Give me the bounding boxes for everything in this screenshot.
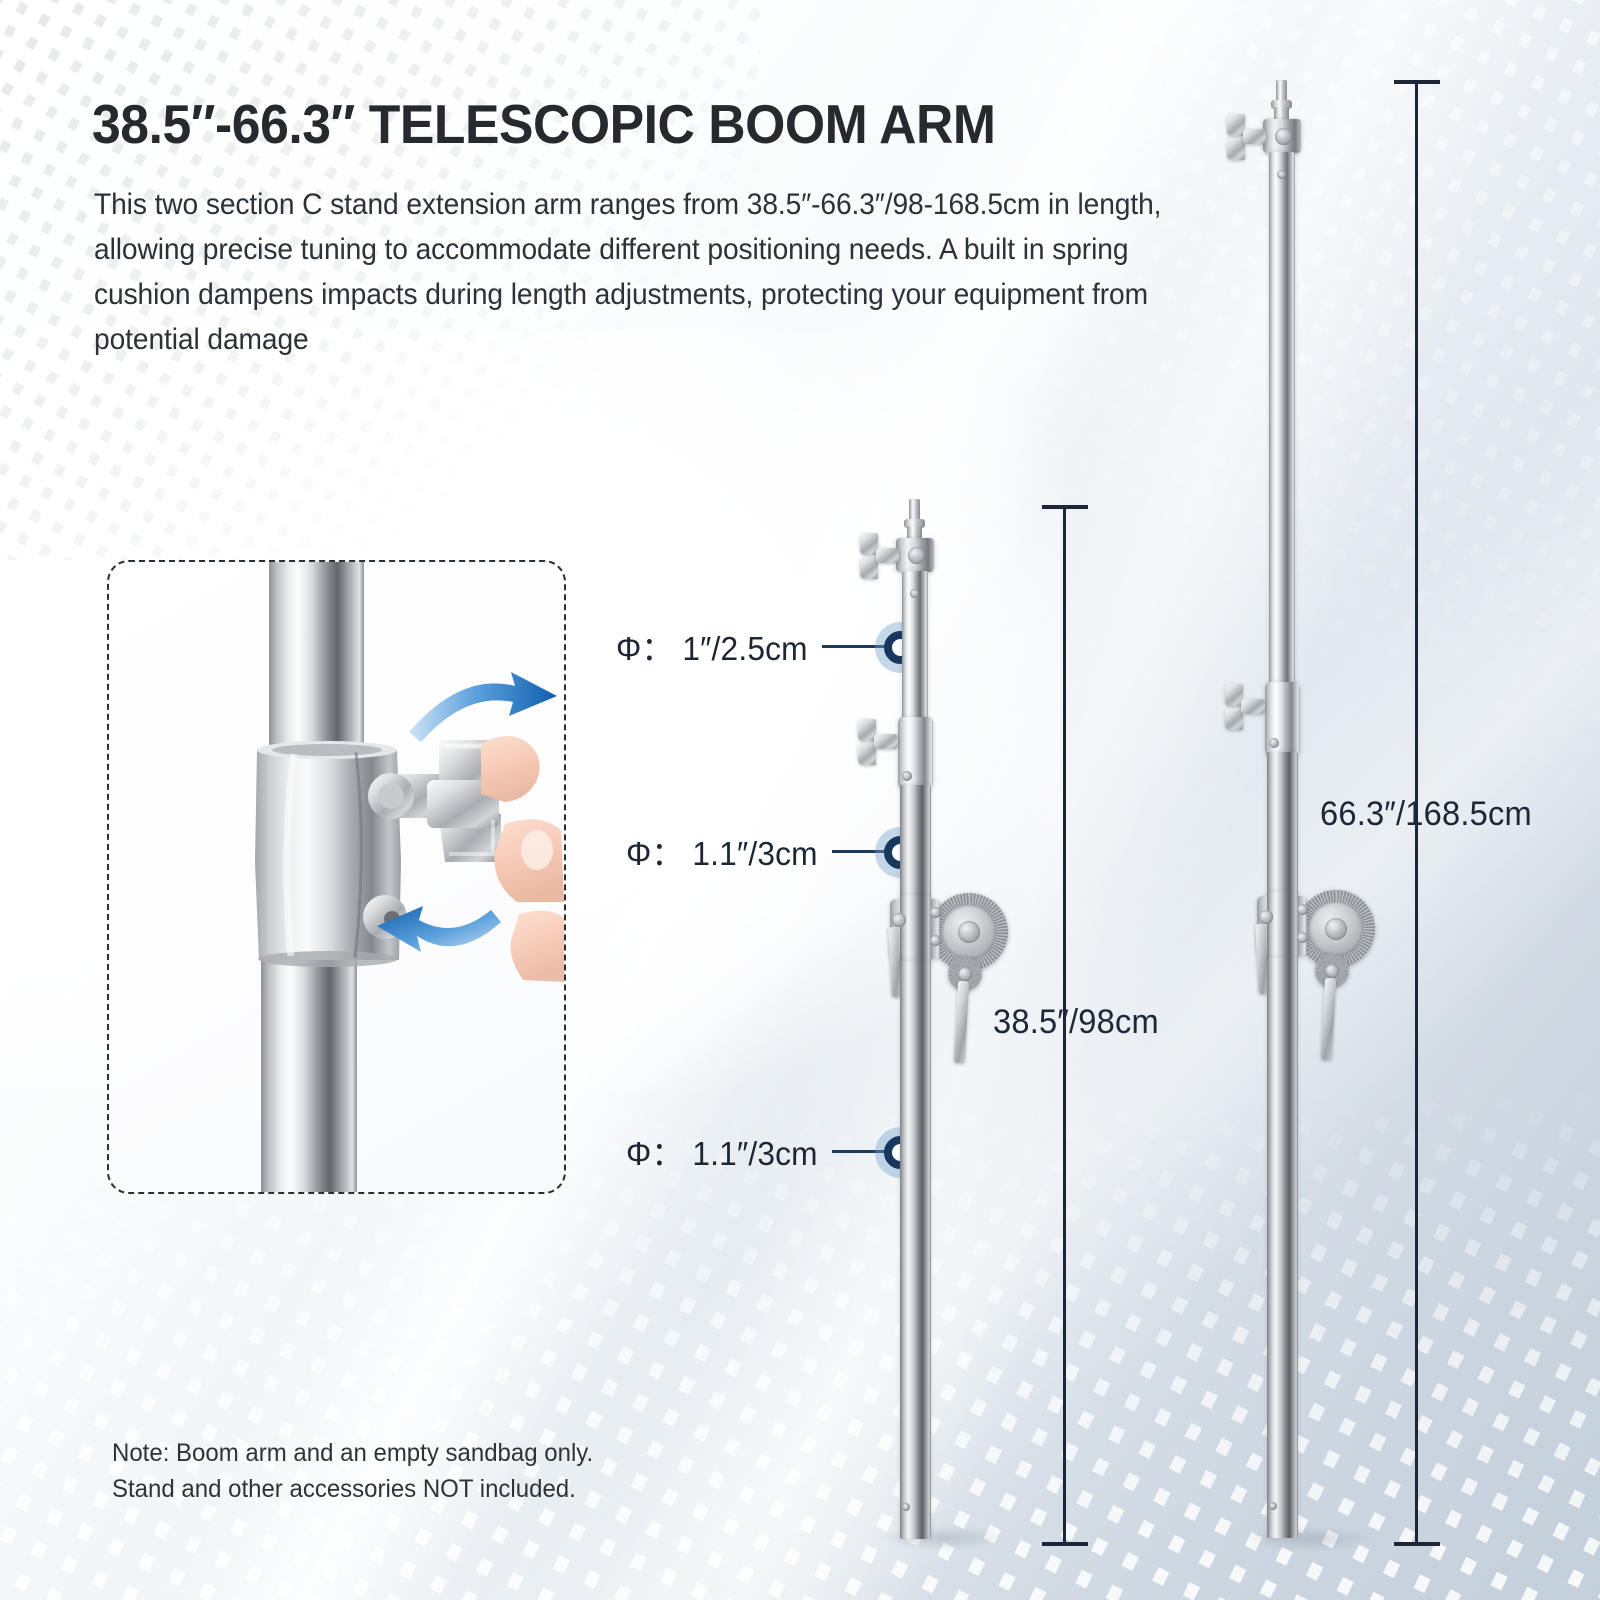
- dimension-extended-cap-bottom: [1394, 1542, 1440, 1546]
- upper-tube-screw: [910, 589, 919, 598]
- dimension-collapsed-cap-bottom: [1042, 1542, 1088, 1546]
- top-clamp-hole: [908, 547, 925, 564]
- top-stud: [909, 499, 920, 521]
- grip-head-clamp-bolt-top: [892, 913, 906, 927]
- grip-head-center-bolt: [958, 921, 980, 943]
- middle-tube: [900, 785, 931, 900]
- middle-wing-knob-shaft-extended: [1241, 699, 1265, 714]
- upper-tube-screw-extended: [1277, 170, 1286, 179]
- rotate-arrow-up-icon: [409, 672, 557, 742]
- callout-lower-diameter-label: Φ： 1.1″/3cm: [626, 1127, 818, 1175]
- description-paragraph: This two section C stand extension arm r…: [94, 182, 1192, 362]
- dimension-collapsed-label: 38.5″/98cm: [993, 1003, 1159, 1042]
- grip-head-secondary-bolt-extended: [1325, 964, 1339, 978]
- middle-tube-extended: [1267, 752, 1298, 902]
- grip-head-lever-right-extended: [1321, 978, 1336, 1060]
- middle-wing-knob-shaft: [874, 734, 898, 749]
- dimension-extended-label: 66.3″/168.5cm: [1320, 795, 1532, 834]
- grip-head-tube-pass: [900, 895, 931, 965]
- top-wing-knob-shaft-extended: [1243, 129, 1266, 144]
- note-line-2: Stand and other accessories NOT included…: [112, 1471, 726, 1507]
- middle-collar-screw: [902, 771, 912, 781]
- note-line-1: Note: Boom arm and an empty sandbag only…: [112, 1435, 726, 1471]
- lower-tube-screw-extended: [1269, 1502, 1277, 1510]
- lower-tube: [900, 961, 931, 1539]
- lower-tube-screw: [902, 1503, 910, 1511]
- knob-detail-illustration: [109, 562, 564, 1192]
- middle-collar-screw-extended: [1269, 738, 1279, 748]
- page-title: 38.5″-66.3″ TELESCOPIC BOOM ARM: [92, 92, 996, 156]
- grip-head-secondary-bolt: [958, 967, 972, 981]
- knob-detail-photo: [109, 562, 564, 1192]
- grip-head-tube-pass-extended: [1267, 892, 1298, 962]
- grip-head-clamp-bolt-top-extended: [1259, 910, 1273, 924]
- grip-head-lever-right: [954, 981, 969, 1063]
- top-wing-knob-shaft: [876, 548, 899, 563]
- top-stud-extended: [1276, 80, 1287, 102]
- grip-head-clamp-bolt-mid-extended: [1297, 904, 1308, 915]
- grip-head-clamp-bolt-mid: [930, 907, 941, 918]
- infographic-canvas: 38.5″-66.3″ TELESCOPIC BOOM ARM This two…: [0, 0, 1600, 1600]
- arm-shadow-extended: [1245, 1526, 1375, 1552]
- grip-head-clamp-bolt-bottom: [930, 935, 941, 946]
- upper-tube-extended: [1269, 152, 1295, 690]
- disclaimer-note: Note: Boom arm and an empty sandbag only…: [112, 1435, 726, 1507]
- callout-upper-diameter-label: Φ： 1″/2.5cm: [616, 622, 808, 670]
- lower-tube-detail: [261, 957, 357, 1192]
- callout-middle-diameter-label: Φ： 1.1″/3cm: [626, 827, 818, 875]
- grip-head-clamp-bolt-bottom-extended: [1297, 932, 1308, 943]
- knob-detail-inset: [107, 560, 566, 1194]
- lower-tube-extended: [1267, 958, 1298, 1538]
- top-clamp-hole-extended: [1275, 128, 1292, 145]
- grip-head-center-bolt-extended: [1325, 918, 1347, 940]
- arm-shadow: [878, 1525, 1008, 1551]
- upper-tube-detail: [269, 562, 364, 752]
